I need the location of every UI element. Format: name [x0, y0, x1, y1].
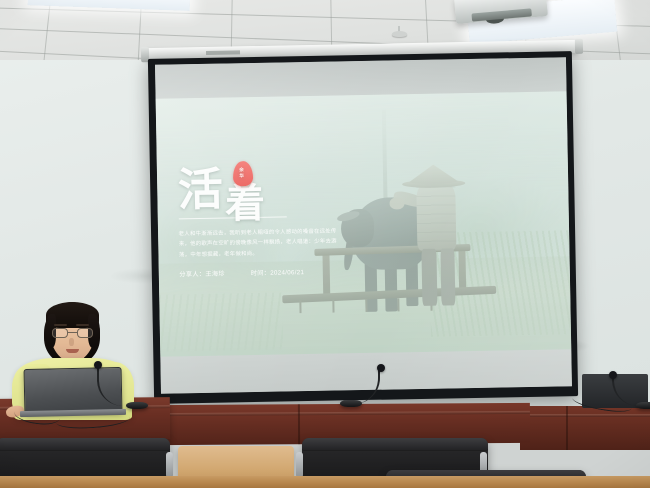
- seal-line-2: 华: [239, 173, 246, 180]
- chair-arm-center-left: [296, 452, 303, 478]
- front-desk: [0, 476, 650, 488]
- presenter-mouth: [66, 349, 79, 353]
- presenter-nose: [69, 338, 74, 346]
- slide-title-char-1: 活: [177, 164, 225, 215]
- chair-arm-left: [166, 452, 173, 478]
- projected-slide: 活着 余 华 老人和牛渐渐远去，我听到老人粗哑的令人感动的嗓音在远处传来，他的歌…: [156, 91, 572, 356]
- mic-base-center[interactable]: [340, 400, 362, 407]
- presenter-label: 分享人：王海珍: [179, 269, 225, 279]
- slide-title-char-2: 着: [225, 183, 268, 224]
- slide-body-text: 老人和牛渐渐远去，我听到老人粗哑的令人感动的嗓音在远处传来，他的歌声在空旷的傍晚…: [179, 226, 345, 261]
- date-label: 时间：2024/06/21: [251, 267, 305, 277]
- mic-base-right[interactable]: [636, 402, 650, 409]
- author-seal-icon: 余 华: [232, 161, 252, 186]
- mic-head-center[interactable]: [377, 364, 385, 372]
- mic-base-left[interactable]: [126, 402, 148, 409]
- screen-surface: 活着 余 华 老人和牛渐渐远去，我听到老人粗哑的令人感动的嗓音在远处传来，他的歌…: [155, 57, 572, 393]
- conference-desk-right: [520, 406, 650, 450]
- mic-head-left[interactable]: [94, 361, 102, 369]
- smoke-detector-icon: [392, 31, 407, 37]
- conference-room-photo: 活着 余 华 老人和牛渐渐远去，我听到老人粗哑的令人感动的嗓音在远处传来，他的歌…: [0, 0, 650, 488]
- projection-screen: 活着 余 华 老人和牛渐渐远去，我听到老人粗哑的令人感动的嗓音在远处传来，他的歌…: [148, 51, 578, 404]
- roller-label: [206, 50, 240, 55]
- slide-title: 活着 余 华: [177, 165, 350, 213]
- slide-text-block: 活着 余 华 老人和牛渐渐远去，我听到老人粗哑的令人感动的嗓音在远处传来，他的歌…: [177, 165, 352, 279]
- presenter-glasses-icon: [52, 328, 93, 338]
- mic-head-right[interactable]: [609, 371, 617, 379]
